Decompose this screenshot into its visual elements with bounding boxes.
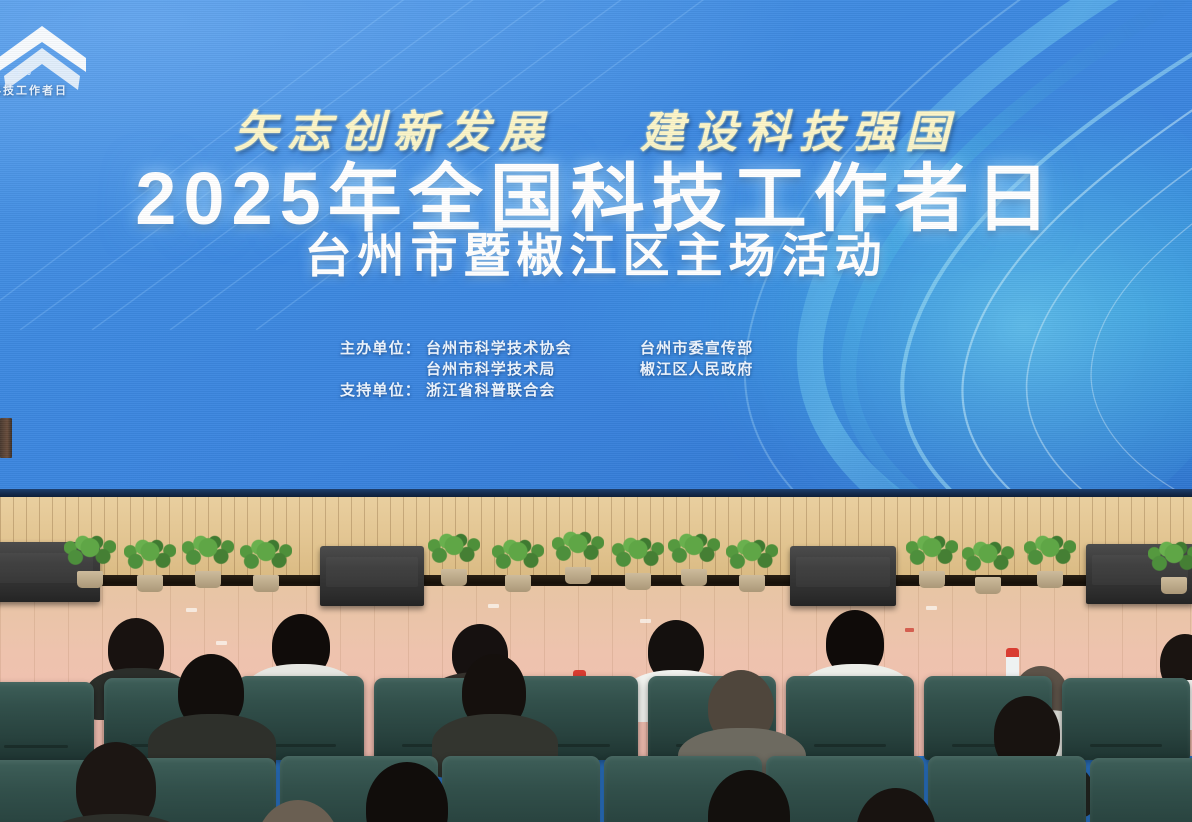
potted-plant	[726, 534, 778, 592]
potted-plant	[1148, 536, 1192, 594]
potted-plant	[124, 534, 176, 592]
logo-date-badge: 5.30	[14, 68, 32, 77]
credits-row-host-1: 主办单位： 台州市科学技术协会 台州市委宣传部	[340, 338, 880, 359]
host-org-3: 台州市科学技术局	[426, 359, 640, 380]
audience-seat	[928, 756, 1086, 822]
potted-plant	[64, 530, 116, 588]
support-org: 浙江省科普联合会	[426, 380, 640, 401]
organizer-credits: 主办单位： 台州市科学技术协会 台州市委宣传部 台州市科学技术局 椒江区人民政府…	[340, 338, 880, 401]
left-edge-object	[0, 418, 12, 458]
host-org-1: 台州市科学技术协会	[426, 338, 640, 359]
audience-head	[76, 742, 156, 822]
potted-plant	[962, 536, 1014, 594]
host-org-4: 椒江区人民政府	[640, 359, 753, 380]
potted-plant	[668, 528, 720, 586]
floor-tape-mark	[488, 604, 499, 608]
potted-plant	[906, 530, 958, 588]
audience-seat	[1062, 678, 1190, 760]
audience-seat	[1090, 758, 1192, 822]
audience-seat	[442, 756, 600, 822]
potted-plant	[240, 534, 292, 592]
host-org-2: 台州市委宣传部	[640, 338, 753, 359]
support-label: 支持单位：	[340, 380, 426, 401]
audience-seat	[0, 682, 94, 760]
audience-seat	[786, 676, 914, 760]
potted-plant	[492, 534, 544, 592]
potted-plant	[182, 530, 234, 588]
conference-photo: 5.30 科技工作者日 矢志创新发展 建设科技强国 2025年全国科技工作者日 …	[0, 0, 1192, 822]
potted-plant	[552, 526, 604, 584]
event-sub-title: 台州市暨椒江区主场活动	[0, 230, 1192, 282]
credits-row-support: 支持单位： 浙江省科普联合会	[340, 380, 880, 401]
event-main-title: 2025年全国科技工作者日	[0, 160, 1192, 238]
potted-plant	[612, 532, 664, 590]
calligraphy-right: 建设科技强国	[640, 108, 958, 157]
led-screen-backdrop: 5.30 科技工作者日 矢志创新发展 建设科技强国 2025年全国科技工作者日 …	[0, 0, 1192, 497]
potted-plant	[428, 528, 480, 586]
calligraphy-left: 矢志创新发展	[234, 108, 552, 157]
calligraphy-slogan: 矢志创新发展 建设科技强国	[0, 96, 1192, 160]
stage-monitor-speaker	[790, 546, 896, 606]
potted-plant	[1024, 530, 1076, 588]
credits-row-host-2: 台州市科学技术局 椒江区人民政府	[340, 359, 880, 380]
host-label: 主办单位：	[340, 338, 426, 359]
stage-monitor-speaker	[320, 546, 424, 606]
audience-area	[0, 610, 1192, 822]
